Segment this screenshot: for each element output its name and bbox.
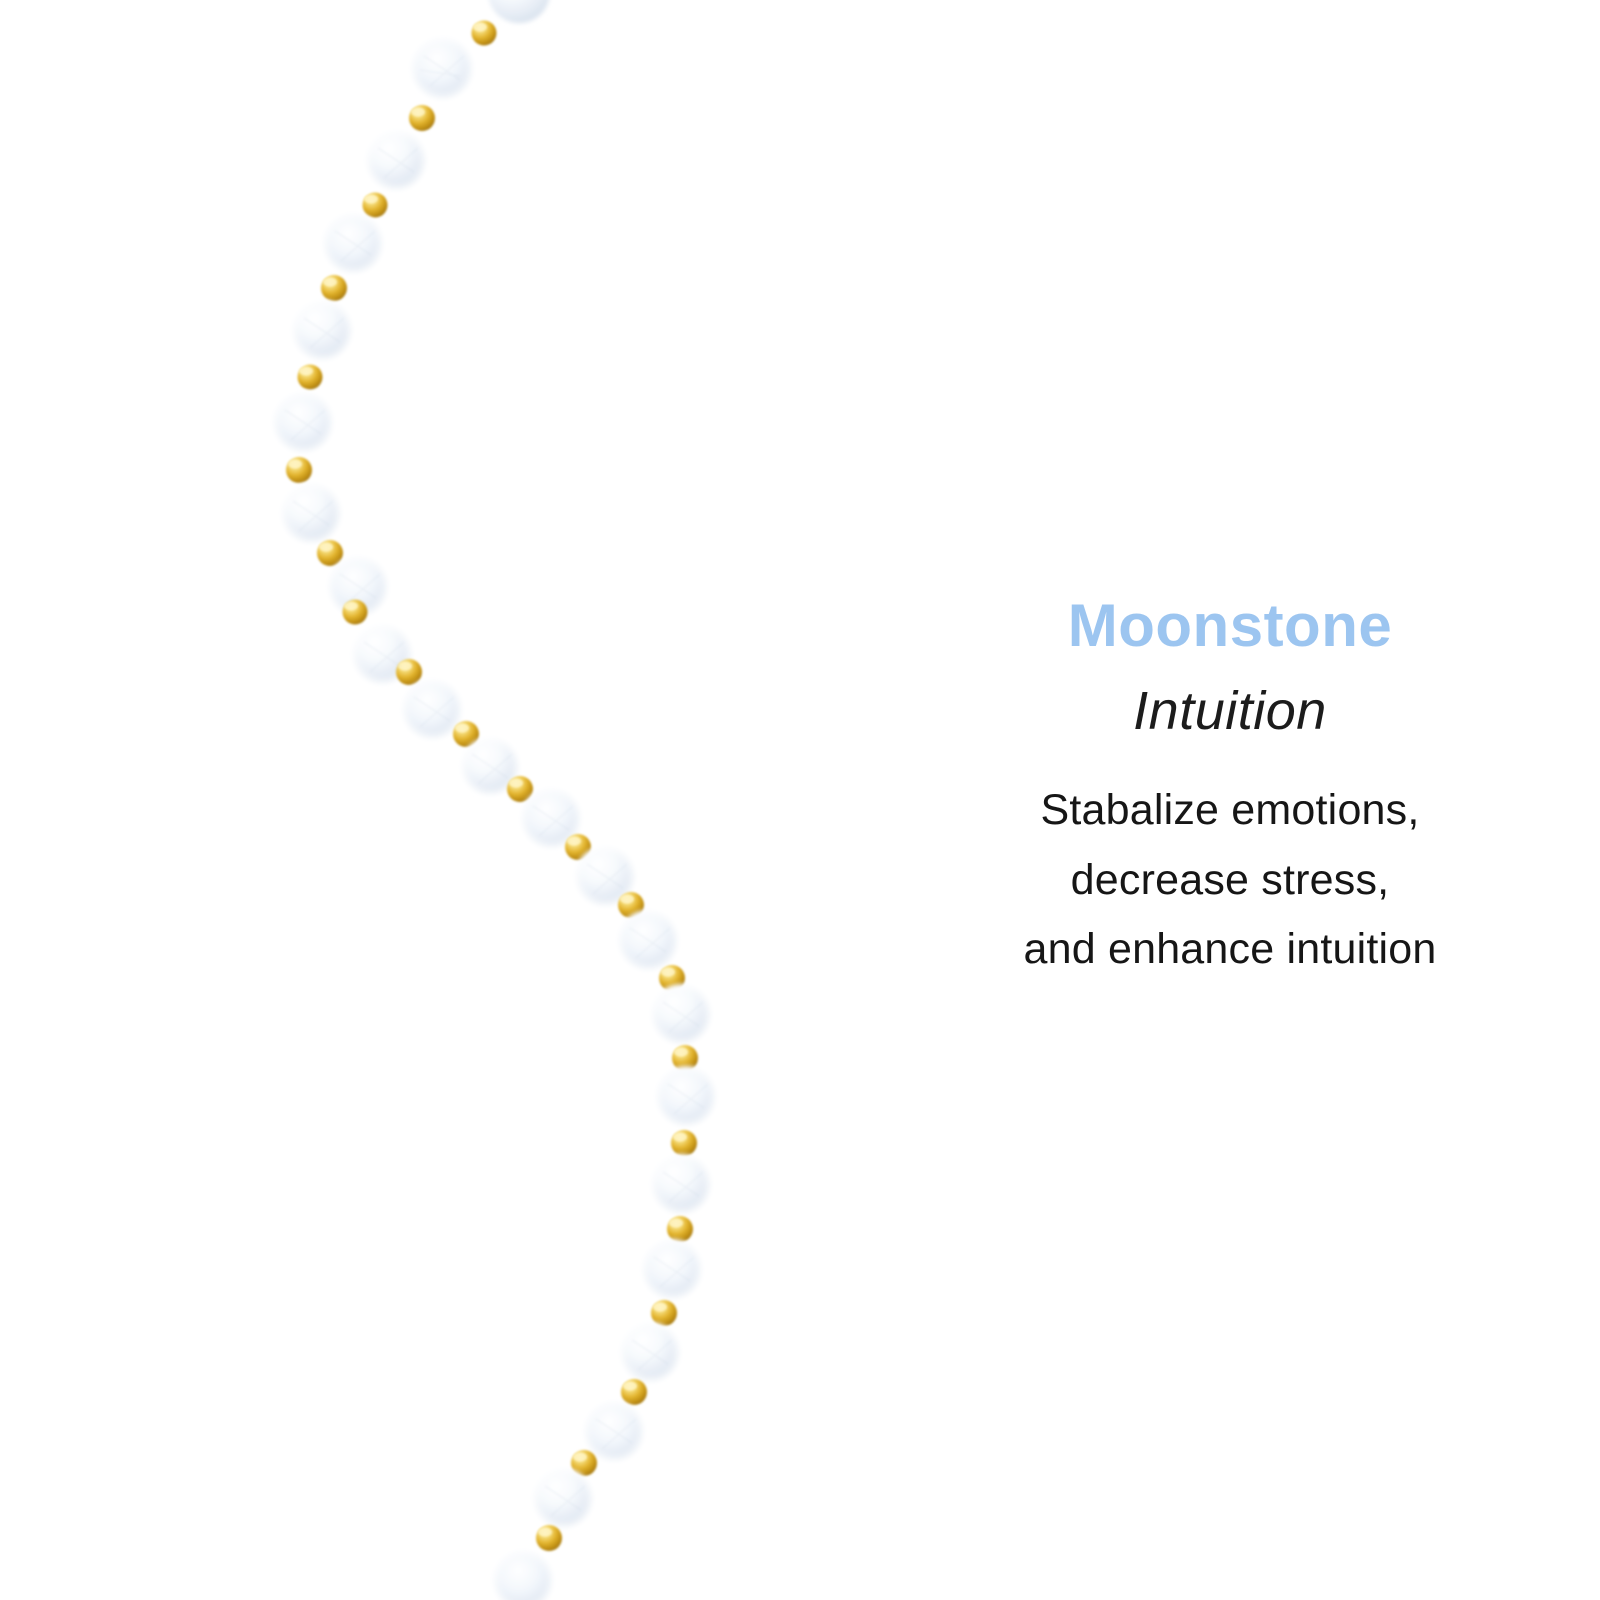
moonstone-strand-illustration bbox=[0, 0, 860, 1600]
product-photo bbox=[0, 0, 860, 1600]
description-line-2: decrease stress, bbox=[920, 846, 1540, 916]
gemstone-name-heading: Moonstone bbox=[920, 596, 1540, 656]
gemstone-keyword: Intuition bbox=[920, 684, 1540, 738]
product-card: Moonstone Intuition Stabalize emotions, … bbox=[0, 0, 1600, 1600]
description-line-1: Stabalize emotions, bbox=[920, 776, 1540, 846]
gemstone-description: Stabalize emotions, decrease stress, and… bbox=[920, 776, 1540, 985]
gemstone-info-panel: Moonstone Intuition Stabalize emotions, … bbox=[860, 0, 1600, 1600]
description-line-3: and enhance intuition bbox=[920, 915, 1540, 985]
